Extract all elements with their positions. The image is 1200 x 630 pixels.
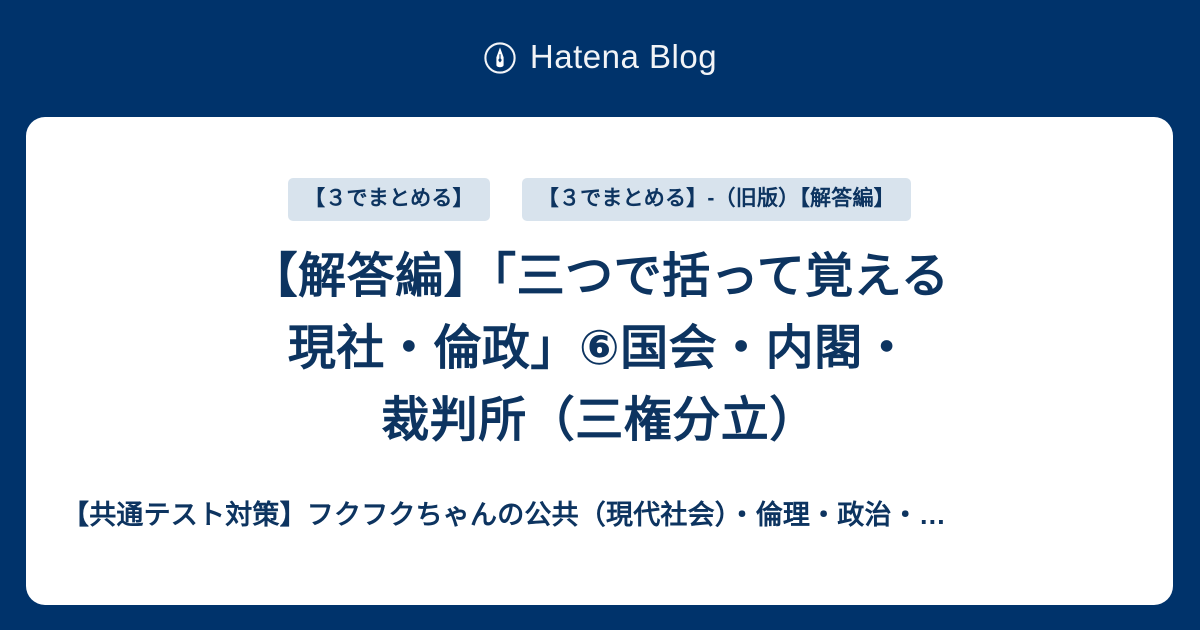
entry-card-inner: 【３でまとめる】 【３でまとめる】-（旧版）【解答編】 【解答編】「三つで括って… xyxy=(26,117,1173,605)
entry-title: 【解答編】「三つで括って覚える現社・倫政」⑥国会・内閣・裁判所（三権分立） xyxy=(76,241,1123,457)
hatena-pen-nib-icon xyxy=(483,41,517,75)
entry-title-line: 現社・倫政」⑥国会・内閣・ xyxy=(288,322,911,375)
entry-title-line: 裁判所（三権分立） xyxy=(381,394,818,447)
tag-item-1[interactable]: 【３でまとめる】-（旧版）【解答編】 xyxy=(522,178,911,221)
hatena-blog-wordmark: Hatena Blog xyxy=(530,40,717,73)
ogp-card-root: Hatena Blog 【３でまとめる】 【３でまとめる】-（旧版）【解答編】 … xyxy=(0,0,1200,630)
blog-title: 【共通テスト対策】フクフクちゃんの公共（現代社会）・倫理・政治・… xyxy=(62,495,1137,535)
entry-card: 【３でまとめる】 【３でまとめる】-（旧版）【解答編】 【解答編】「三つで括って… xyxy=(26,117,1173,605)
hatena-blog-brand: Hatena Blog xyxy=(0,0,1200,113)
tag-item-0[interactable]: 【３でまとめる】 xyxy=(288,178,490,221)
entry-title-line: 【解答編】「三つで括って覚える xyxy=(250,250,950,303)
tag-list: 【３でまとめる】 【３でまとめる】-（旧版）【解答編】 xyxy=(26,178,1173,221)
